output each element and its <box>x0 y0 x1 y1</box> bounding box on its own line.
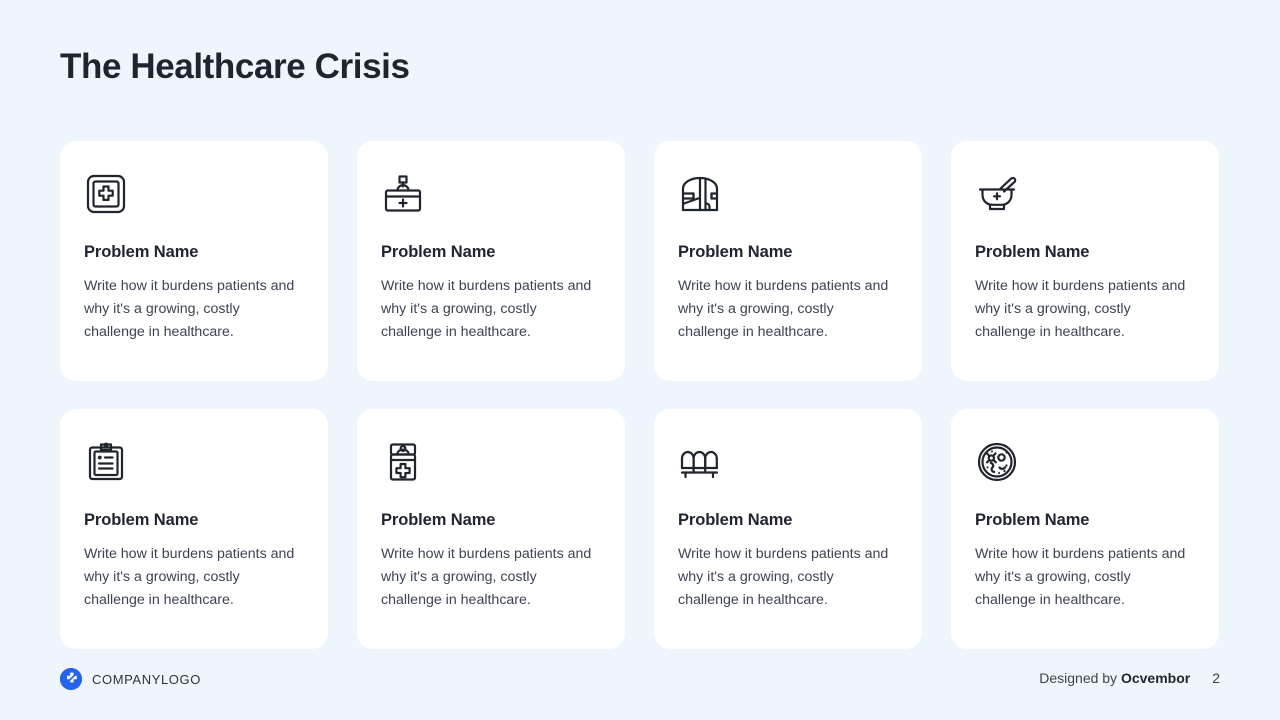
page-number: 2 <box>1212 670 1220 686</box>
company-logo-text: COMPANYLOGO <box>92 672 201 687</box>
designed-by-prefix: Designed by <box>1039 670 1121 686</box>
medical-sign-square-icon <box>84 172 128 216</box>
card-body: Write how it burdens patients and why it… <box>975 543 1190 612</box>
medicine-bottle-icon <box>381 440 425 484</box>
mortar-and-pestle-icon <box>975 172 1019 216</box>
first-aid-kit-icon <box>381 172 425 216</box>
slide-root: The Healthcare Crisis Problem Name Write… <box>0 0 1280 720</box>
card-title: Problem Name <box>975 511 1195 531</box>
card-title: Problem Name <box>84 511 304 531</box>
card-title: Problem Name <box>381 511 601 531</box>
page-title: The Healthcare Crisis <box>60 47 410 87</box>
problem-card[interactable]: Problem Name Write how it burdens patien… <box>357 409 625 649</box>
problem-card[interactable]: Problem Name Write how it burdens patien… <box>60 409 328 649</box>
card-title: Problem Name <box>381 243 601 263</box>
designer-name: Ocvembor <box>1121 670 1190 686</box>
card-body: Write how it burdens patients and why it… <box>381 275 596 344</box>
medical-clipboard-icon <box>84 440 128 484</box>
slide-footer: COMPANYLOGO Designed by Ocvembor 2 <box>0 654 1280 720</box>
designed-by-credit: Designed by Ocvembor <box>1039 670 1190 686</box>
problem-card[interactable]: Problem Name Write how it burdens patien… <box>60 141 328 381</box>
card-body: Write how it burdens patients and why it… <box>84 543 299 612</box>
waiting-room-chairs-icon <box>678 440 722 484</box>
company-logo-icon <box>60 668 82 690</box>
problem-card[interactable]: Problem Name Write how it burdens patien… <box>357 141 625 381</box>
petri-dish-bacteria-icon <box>975 440 1019 484</box>
hospital-bed-arch-icon <box>678 172 722 216</box>
card-title: Problem Name <box>678 243 898 263</box>
card-title: Problem Name <box>84 243 304 263</box>
footer-logo-group[interactable]: COMPANYLOGO <box>60 668 201 690</box>
problem-card[interactable]: Problem Name Write how it burdens patien… <box>951 141 1219 381</box>
problem-card[interactable]: Problem Name Write how it burdens patien… <box>654 409 922 649</box>
card-body: Write how it burdens patients and why it… <box>381 543 596 612</box>
card-title: Problem Name <box>678 511 898 531</box>
card-title: Problem Name <box>975 243 1195 263</box>
problem-card[interactable]: Problem Name Write how it burdens patien… <box>654 141 922 381</box>
card-body: Write how it burdens patients and why it… <box>678 275 893 344</box>
card-body: Write how it burdens patients and why it… <box>975 275 1190 344</box>
card-body: Write how it burdens patients and why it… <box>678 543 893 612</box>
card-body: Write how it burdens patients and why it… <box>84 275 299 344</box>
problem-card[interactable]: Problem Name Write how it burdens patien… <box>951 409 1219 649</box>
footer-meta-group: Designed by Ocvembor 2 <box>1039 670 1220 686</box>
problem-card-grid: Problem Name Write how it burdens patien… <box>60 141 1220 649</box>
